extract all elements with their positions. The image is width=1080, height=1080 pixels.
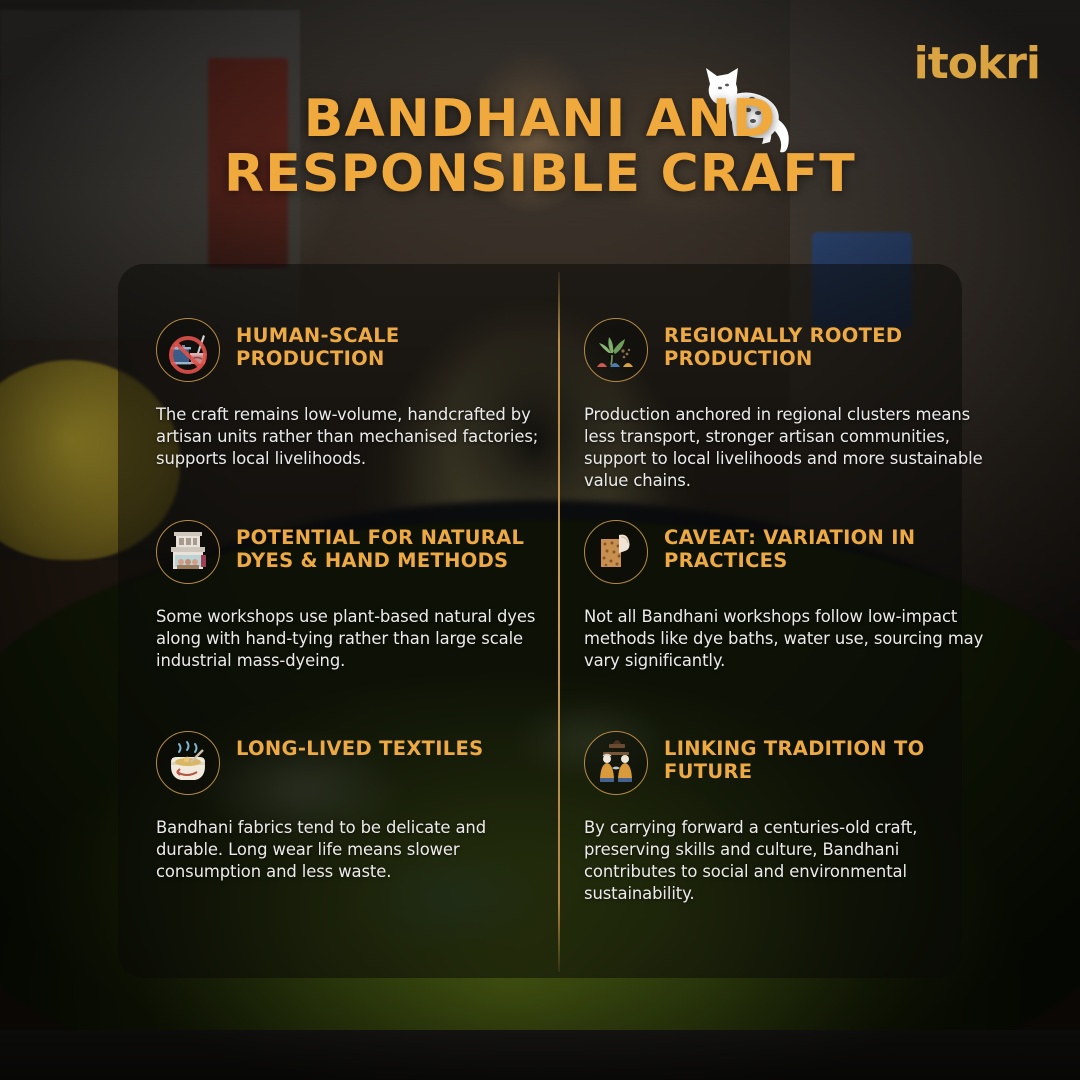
block-title: REGIONALLY ROOTED PRODUCTION bbox=[664, 318, 984, 370]
info-block-regionally-rooted-production: REGIONALLY ROOTED PRODUCTION Production … bbox=[584, 318, 984, 492]
block-title: LONG-LIVED TEXTILES bbox=[236, 731, 484, 760]
block-title: HUMAN-SCALE PRODUCTION bbox=[236, 318, 542, 370]
info-block-human-scale-production: HUMAN-SCALE PRODUCTION The craft remains… bbox=[152, 318, 542, 470]
natural-dye-plants-icon bbox=[584, 318, 648, 382]
header: itokri B bbox=[0, 0, 1080, 264]
block-body: The craft remains low-volume, handcrafte… bbox=[152, 404, 542, 470]
title-line-2: RESPONSIBLE CRAFT bbox=[0, 147, 1080, 202]
hand-holding-fabric-icon bbox=[584, 520, 648, 584]
info-block-potential-for-natural-dyes: POTENTIAL FOR NATURAL DYES & HAND METHOD… bbox=[152, 520, 544, 672]
brand-logo[interactable]: itokri bbox=[914, 42, 1040, 86]
no-factory-icon bbox=[156, 318, 220, 382]
info-block-linking-tradition-to-future: LINKING TRADITION TO FUTURE By carrying … bbox=[584, 731, 984, 905]
block-title: POTENTIAL FOR NATURAL DYES & HAND METHOD… bbox=[236, 520, 544, 572]
block-title: CAVEAT: VARIATION IN PRACTICES bbox=[664, 520, 984, 572]
block-body: Some workshops use plant-based natural d… bbox=[152, 606, 544, 672]
title-line-1: BANDHANI AND bbox=[0, 92, 1080, 147]
block-body: Bandhani fabrics tend to be delicate and… bbox=[152, 817, 542, 883]
block-body: By carrying forward a centuries-old craf… bbox=[584, 817, 984, 905]
page-title: BANDHANI AND RESPONSIBLE CRAFT bbox=[0, 92, 1080, 202]
dye-pot-icon bbox=[156, 731, 220, 795]
two-artisans-icon bbox=[584, 731, 648, 795]
info-block-long-lived-textiles: LONG-LIVED TEXTILES Bandhani fabrics ten… bbox=[152, 731, 542, 883]
block-body: Not all Bandhani workshops follow low-im… bbox=[584, 606, 984, 672]
block-title: LINKING TRADITION TO FUTURE bbox=[664, 731, 984, 783]
info-block-caveat-variation: CAVEAT: VARIATION IN PRACTICES Not all B… bbox=[584, 520, 984, 672]
artisan-workshop-icon bbox=[156, 520, 220, 584]
column-divider bbox=[558, 272, 560, 972]
brand-logo-text: itokri bbox=[914, 38, 1040, 89]
block-body: Production anchored in regional clusters… bbox=[584, 404, 984, 492]
